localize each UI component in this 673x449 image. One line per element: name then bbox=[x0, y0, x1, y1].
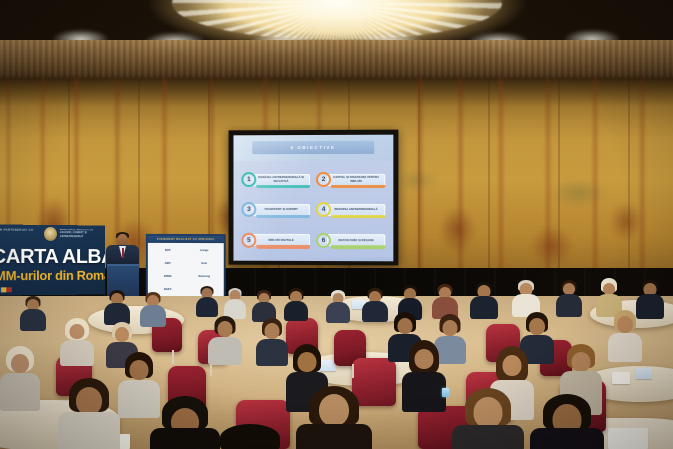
chair-leg bbox=[172, 350, 174, 364]
person-head bbox=[130, 360, 149, 380]
objective-item: 1 ROMÂNIA ANTREPRENORIALĂ ȘI INOVATIVĂ bbox=[241, 167, 310, 192]
banner-ministry-label: MINISTERUL MEDIULUI DE AFACERI, COMERȚ Ș… bbox=[60, 229, 103, 240]
sponsor-logo: KPMG bbox=[150, 271, 186, 283]
objective-text: CAPITAL ȘI FINANȚARE PENTRU IMM-URI bbox=[330, 176, 382, 183]
audience-member bbox=[284, 288, 308, 320]
audience-member bbox=[206, 424, 294, 449]
document-on-table bbox=[636, 368, 652, 379]
audience-member bbox=[58, 378, 120, 449]
person-torso bbox=[530, 428, 604, 449]
banner-partner-label: ÎN PARTENERIAT CU bbox=[0, 229, 33, 232]
objective-box: RESURSA ANTREPRENORIALĂ bbox=[327, 204, 385, 216]
person-head bbox=[115, 327, 129, 342]
conference-hall-photo: 6 OBIECTIVE 1 ROMÂNIA ANTREPRENORIALĂ ȘI… bbox=[0, 0, 673, 449]
chair-leg bbox=[352, 364, 354, 378]
projected-slide: 6 OBIECTIVE 1 ROMÂNIA ANTREPRENORIALĂ ȘI… bbox=[233, 135, 393, 262]
objective-text: DEZVOLTARE ȘI REGIUNI bbox=[338, 239, 373, 242]
person-torso bbox=[140, 305, 166, 327]
objective-number-badge: 6 bbox=[316, 233, 331, 248]
person-head bbox=[529, 318, 545, 335]
slide-objectives-grid: 1 ROMÂNIA ANTREPRENORIALĂ ȘI INOVATIVĂ 2… bbox=[233, 161, 393, 257]
objective-text: ROMÂNIA ANTREPRENORIALĂ ȘI INOVATIVĂ bbox=[255, 176, 307, 183]
person-head bbox=[298, 352, 317, 372]
document-on-table bbox=[608, 428, 648, 449]
objective-item: 4 RESURSA ANTREPRENORIALĂ bbox=[316, 197, 385, 222]
person-torso bbox=[196, 297, 218, 317]
objective-box: CAPITAL ȘI FINANȚARE PENTRU IMM-URI bbox=[327, 174, 385, 186]
person-torso bbox=[20, 309, 46, 331]
objective-box: TRANSPORT ȘI EXPORT bbox=[252, 204, 310, 216]
person-head bbox=[76, 387, 102, 415]
person-head bbox=[572, 352, 591, 372]
romanian-flag-icon bbox=[0, 287, 12, 292]
person-torso bbox=[608, 333, 642, 362]
audience-member bbox=[208, 316, 242, 364]
smartphone-icon bbox=[442, 388, 449, 397]
audience-member bbox=[470, 282, 498, 318]
person-head bbox=[70, 324, 85, 339]
person-torso bbox=[326, 302, 350, 323]
person-head bbox=[265, 323, 280, 339]
person-hair bbox=[220, 424, 280, 449]
sponsor-board-header-text: EVENIMENT REALIZAT CU SPRIJINUL bbox=[157, 237, 215, 240]
speaker-tie bbox=[122, 248, 125, 258]
audience-member bbox=[296, 386, 372, 449]
projection-screen: 6 OBIECTIVE 1 ROMÂNIA ANTREPRENORIALĂ ȘI… bbox=[229, 130, 399, 266]
audience-member bbox=[20, 296, 46, 330]
person-torso bbox=[362, 301, 388, 322]
person-torso bbox=[402, 372, 446, 412]
person-head bbox=[11, 354, 29, 373]
person-torso bbox=[452, 425, 524, 449]
audience-member bbox=[60, 318, 94, 364]
audience-member bbox=[196, 286, 218, 316]
person-head bbox=[617, 316, 633, 333]
audience-member bbox=[362, 288, 388, 321]
audience-member bbox=[402, 340, 446, 410]
person-head bbox=[503, 355, 522, 376]
person-torso bbox=[470, 296, 498, 319]
objective-text: IMM-URI DIGITALE bbox=[268, 239, 293, 242]
person-torso bbox=[60, 340, 94, 366]
audience-member bbox=[452, 388, 524, 449]
document-on-table bbox=[612, 372, 630, 384]
event-banner: ÎN PARTENERIAT CU MINISTERUL MEDIULUI DE… bbox=[0, 224, 105, 295]
slide-title: 6 OBIECTIVE bbox=[290, 145, 335, 150]
person-torso bbox=[556, 294, 582, 317]
audience-member bbox=[432, 284, 458, 318]
sponsor-board-header: EVENIMENT REALIZAT CU SPRIJINUL bbox=[148, 236, 224, 242]
objective-item: 3 TRANSPORT ȘI EXPORT bbox=[241, 197, 310, 222]
audience-member bbox=[252, 290, 276, 320]
objective-text: RESURSA ANTREPRENORIALĂ bbox=[334, 208, 377, 211]
sponsor-logo: Enel bbox=[186, 258, 221, 270]
audience-member bbox=[326, 290, 350, 322]
sponsor-logo: BCR bbox=[150, 245, 186, 257]
person-head bbox=[415, 349, 434, 369]
objective-box: DEZVOLTARE ȘI REGIUNI bbox=[327, 234, 385, 246]
objective-text: TRANSPORT ȘI EXPORT bbox=[264, 208, 298, 211]
audience-member bbox=[224, 288, 246, 318]
coat-of-arms-icon bbox=[44, 227, 57, 241]
sponsor-logo: Samsung bbox=[186, 270, 221, 282]
objective-item: 5 IMM-URI DIGITALE bbox=[241, 228, 310, 253]
person-torso bbox=[208, 337, 242, 365]
audience-member bbox=[608, 310, 642, 360]
banner-title: CARTA ALBĂ bbox=[0, 246, 105, 269]
audience-member bbox=[530, 394, 604, 449]
audience-member bbox=[140, 292, 166, 326]
banner-subtitle: IMM-urilor din România bbox=[0, 268, 105, 284]
objective-box: ROMÂNIA ANTREPRENORIALĂ ȘI INOVATIVĂ bbox=[252, 174, 310, 186]
objective-box: IMM-URI DIGITALE bbox=[252, 234, 310, 246]
slide-title-bar: 6 OBIECTIVE bbox=[252, 141, 374, 154]
audience-member bbox=[0, 346, 40, 408]
person-torso bbox=[0, 373, 40, 411]
person-head bbox=[319, 394, 349, 426]
person-torso bbox=[58, 412, 120, 449]
objective-item: 6 DEZVOLTARE ȘI REGIUNI bbox=[316, 228, 385, 254]
audience-member bbox=[104, 290, 130, 324]
person-head bbox=[474, 397, 503, 428]
sponsor-logo: orange bbox=[186, 245, 221, 257]
objective-item: 2 CAPITAL ȘI FINANȚARE PENTRU IMM-URI bbox=[316, 167, 385, 192]
person-head bbox=[218, 321, 233, 337]
sponsor-logo: OMV bbox=[150, 258, 186, 270]
audience-member bbox=[556, 280, 582, 316]
person-torso bbox=[256, 339, 288, 366]
person-head bbox=[443, 320, 458, 336]
person-head bbox=[398, 318, 413, 334]
audience-member bbox=[512, 280, 540, 316]
audience-member bbox=[256, 318, 288, 364]
person-torso bbox=[296, 424, 372, 449]
objective-number-badge: 5 bbox=[241, 233, 256, 248]
